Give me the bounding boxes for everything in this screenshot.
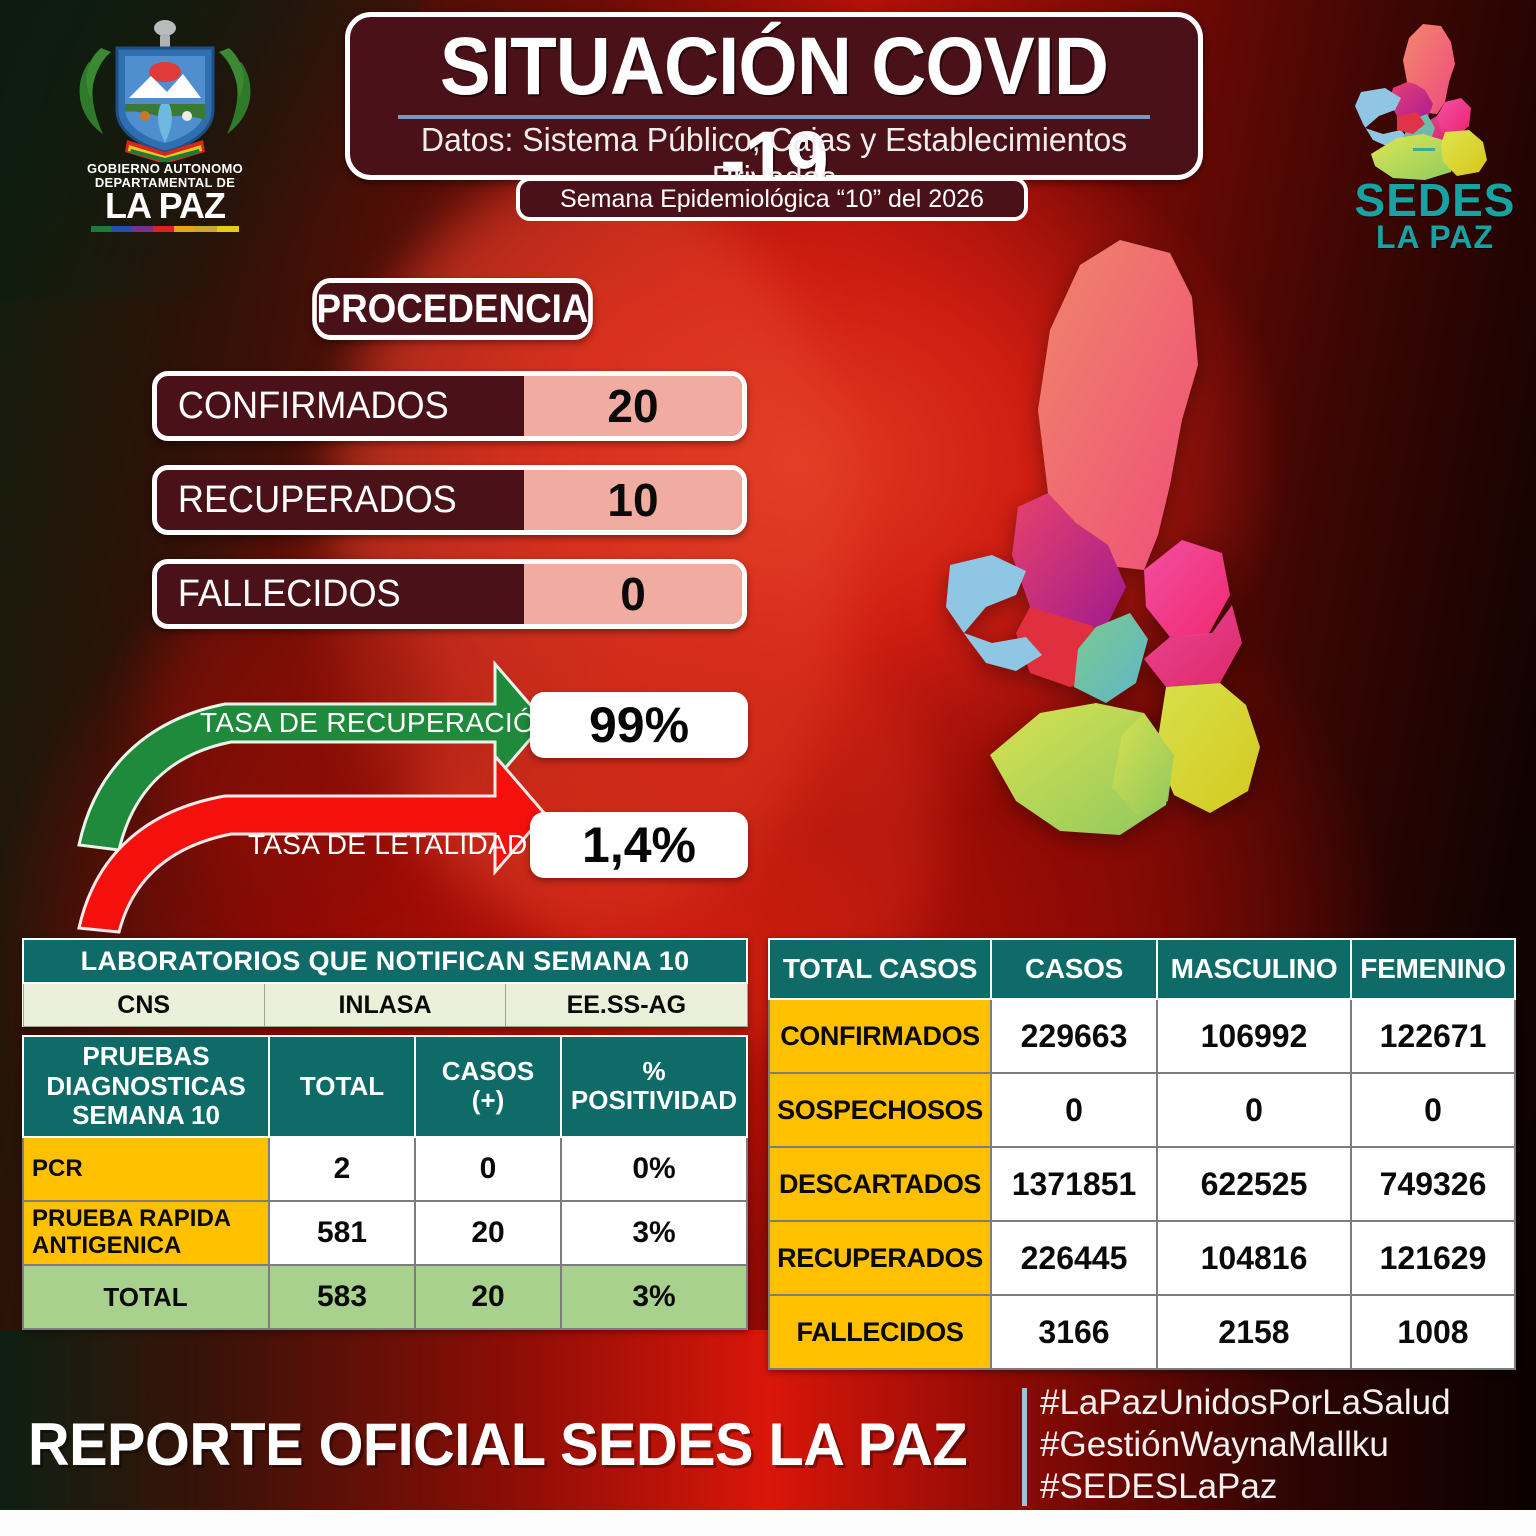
table-row: FALLECIDOS 3166 2158 1008: [769, 1295, 1515, 1369]
lethality-rate-label: TASA DE LETALIDAD: [248, 829, 527, 861]
casos-cell-casos: 229663: [991, 999, 1157, 1073]
footer-divider: [1022, 1388, 1027, 1506]
stat-value: 10: [524, 470, 742, 530]
pruebas-diagnosticas-table: PRUEBAS DIAGNOSTICAS SEMANA 10 TOTAL CAS…: [22, 1035, 748, 1330]
casos-cell-femenino: 0: [1351, 1073, 1515, 1147]
epidemiological-week-badge: Semana Epidemiológica “10” del 2026: [516, 177, 1028, 221]
pruebas-cell-positivos: 0: [415, 1137, 561, 1201]
header-line: TOTAL: [272, 1072, 412, 1102]
casos-row-label: RECUPERADOS: [769, 1221, 991, 1295]
stat-value: 20: [524, 376, 742, 436]
shield: [117, 48, 213, 152]
stat-row-confirmados: CONFIRMADOS 20: [152, 371, 747, 441]
pruebas-col-header-positividad: % POSITIVIDAD: [561, 1036, 747, 1137]
total-casos-table: TOTAL CASOS CASOS MASCULINO FEMENINO CON…: [768, 938, 1516, 1370]
pruebas-cell-total: 583: [269, 1265, 415, 1329]
casos-col-header-femenino: FEMENINO: [1351, 939, 1515, 999]
pruebas-col-header-total: TOTAL: [269, 1036, 415, 1137]
table-row: LABORATORIOS QUE NOTIFICAN SEMANA 10: [23, 939, 747, 983]
casos-row-label: DESCARTADOS: [769, 1147, 991, 1221]
table-row: SOSPECHOSOS 0 0 0: [769, 1073, 1515, 1147]
wiphala-color-bar: [91, 226, 239, 232]
lethality-rate-value: 1,4%: [530, 812, 748, 878]
hashtag: #GestiónWaynaMallku: [1040, 1424, 1451, 1466]
casos-cell-masculino: 0: [1157, 1073, 1351, 1147]
table-row: CONFIRMADOS 229663 106992 122671: [769, 999, 1515, 1073]
lab-cell-cns: CNS: [23, 983, 264, 1027]
casos-row-label: CONFIRMADOS: [769, 999, 991, 1073]
pruebas-row-label: PRUEBA RAPIDA ANTIGENICA: [23, 1201, 269, 1265]
table-header-row: TOTAL CASOS CASOS MASCULINO FEMENINO: [769, 939, 1515, 999]
table-row: DESCARTADOS 1371851 622525 749326: [769, 1147, 1515, 1221]
sedes-line-2: LA PAZ: [1345, 222, 1525, 253]
casos-row-label: FALLECIDOS: [769, 1295, 991, 1369]
header-banner: SITUACIÓN COVID -19 Datos: Sistema Públi…: [345, 12, 1203, 180]
pruebas-col-header-casos: CASOS (+): [415, 1036, 561, 1137]
condor-finial: [154, 20, 176, 50]
infographic-poster: GOBIERNO AUTONOMO DEPARTAMENTAL DE LA PA…: [0, 0, 1536, 1536]
sedes-line-1: SEDES: [1345, 178, 1525, 222]
casos-cell-casos: 0: [991, 1073, 1157, 1147]
pruebas-row-label: TOTAL: [23, 1265, 269, 1329]
stat-label: RECUPERADOS: [157, 470, 506, 530]
casos-cell-masculino: 622525: [1157, 1147, 1351, 1221]
header-line: %: [564, 1057, 744, 1087]
labs-table-header: LABORATORIOS QUE NOTIFICAN SEMANA 10: [23, 939, 747, 983]
stat-row-fallecidos: FALLECIDOS 0: [152, 559, 747, 629]
casos-cell-casos: 226445: [991, 1221, 1157, 1295]
casos-cell-femenino: 749326: [1351, 1147, 1515, 1221]
recovery-rate-label: TASA DE RECUPERACIÓN: [200, 707, 556, 739]
stat-row-recuperados: RECUPERADOS 10: [152, 465, 747, 535]
pruebas-row-label: PCR: [23, 1137, 269, 1201]
casos-cell-femenino: 121629: [1351, 1221, 1515, 1295]
header-line: POSITIVIDAD: [564, 1086, 744, 1116]
pruebas-cell-positividad: 3%: [561, 1201, 747, 1265]
crest-caption: GOBIERNO AUTONOMO DEPARTAMENTAL DE LA PA…: [55, 162, 275, 232]
casos-cell-masculino: 104816: [1157, 1221, 1351, 1295]
table-header-row: PRUEBAS DIAGNOSTICAS SEMANA 10 TOTAL CAS…: [23, 1036, 747, 1137]
casos-cell-masculino: 2158: [1157, 1295, 1351, 1369]
header-line: CASOS: [418, 1057, 558, 1087]
crest-line-3: LA PAZ: [55, 187, 275, 224]
casos-row-label: SOSPECHOSOS: [769, 1073, 991, 1147]
casos-cell-masculino: 106992: [1157, 999, 1351, 1073]
pruebas-cell-positivos: 20: [415, 1265, 561, 1329]
table-row: PCR 2 0 0%: [23, 1137, 747, 1201]
procedencia-title: PROCEDENCIA: [312, 278, 593, 340]
pruebas-cell-total: 2: [269, 1137, 415, 1201]
stat-label: FALLECIDOS: [157, 564, 506, 624]
la-paz-department-map: [930, 235, 1350, 905]
casos-col-header-label: TOTAL CASOS: [769, 939, 991, 999]
casos-cell-casos: 1371851: [991, 1147, 1157, 1221]
hashtag: #LaPazUnidosPorLaSalud: [1040, 1382, 1451, 1424]
pruebas-cell-positividad: 3%: [561, 1265, 747, 1329]
casos-col-header-casos: CASOS: [991, 939, 1157, 999]
recovery-rate-value: 99%: [530, 692, 748, 758]
crest-line-1: GOBIERNO AUTONOMO: [55, 162, 275, 176]
footer-hashtags: #LaPazUnidosPorLaSalud #GestiónWaynaMall…: [1040, 1382, 1451, 1508]
labs-table: LABORATORIOS QUE NOTIFICAN SEMANA 10 CNS…: [22, 938, 748, 1027]
pruebas-cell-positivos: 20: [415, 1201, 561, 1265]
pruebas-cell-total: 581: [269, 1201, 415, 1265]
lab-cell-eessag: EE.SS-AG: [506, 983, 747, 1027]
sedes-wordmark: SEDES LA PAZ: [1345, 178, 1525, 253]
casos-col-header-masculino: MASCULINO: [1157, 939, 1351, 999]
casos-cell-femenino: 1008: [1351, 1295, 1515, 1369]
table-row: RECUPERADOS 226445 104816 121629: [769, 1221, 1515, 1295]
bottom-white-strip: [0, 1510, 1536, 1536]
header-line: DIAGNOSTICAS: [26, 1072, 266, 1102]
casos-cell-femenino: 122671: [1351, 999, 1515, 1073]
header-line: SEMANA 10: [26, 1101, 266, 1131]
footer-title: REPORTE OFICIAL SEDES LA PAZ: [28, 1410, 967, 1479]
hashtag: #SEDESLaPaz: [1040, 1466, 1451, 1508]
casos-cell-casos: 3166: [991, 1295, 1157, 1369]
stat-label: CONFIRMADOS: [157, 376, 506, 436]
table-row: CNS INLASA EE.SS-AG: [23, 983, 747, 1027]
sedes-la-paz-logo: SEDES LA PAZ: [1345, 20, 1525, 250]
lab-cell-inlasa: INLASA: [264, 983, 505, 1027]
table-row: TOTAL 583 20 3%: [23, 1265, 747, 1329]
header-line: PRUEBAS: [26, 1042, 266, 1072]
pruebas-cell-positividad: 0%: [561, 1137, 747, 1201]
stat-value: 0: [524, 564, 742, 624]
government-coat-of-arms: GOBIERNO AUTONOMO DEPARTAMENTAL DE LA PA…: [55, 12, 275, 252]
header-line: (+): [418, 1086, 558, 1116]
title-divider: [398, 115, 1150, 119]
pruebas-col-header-label: PRUEBAS DIAGNOSTICAS SEMANA 10: [23, 1036, 269, 1137]
table-row: PRUEBA RAPIDA ANTIGENICA 581 20 3%: [23, 1201, 747, 1265]
